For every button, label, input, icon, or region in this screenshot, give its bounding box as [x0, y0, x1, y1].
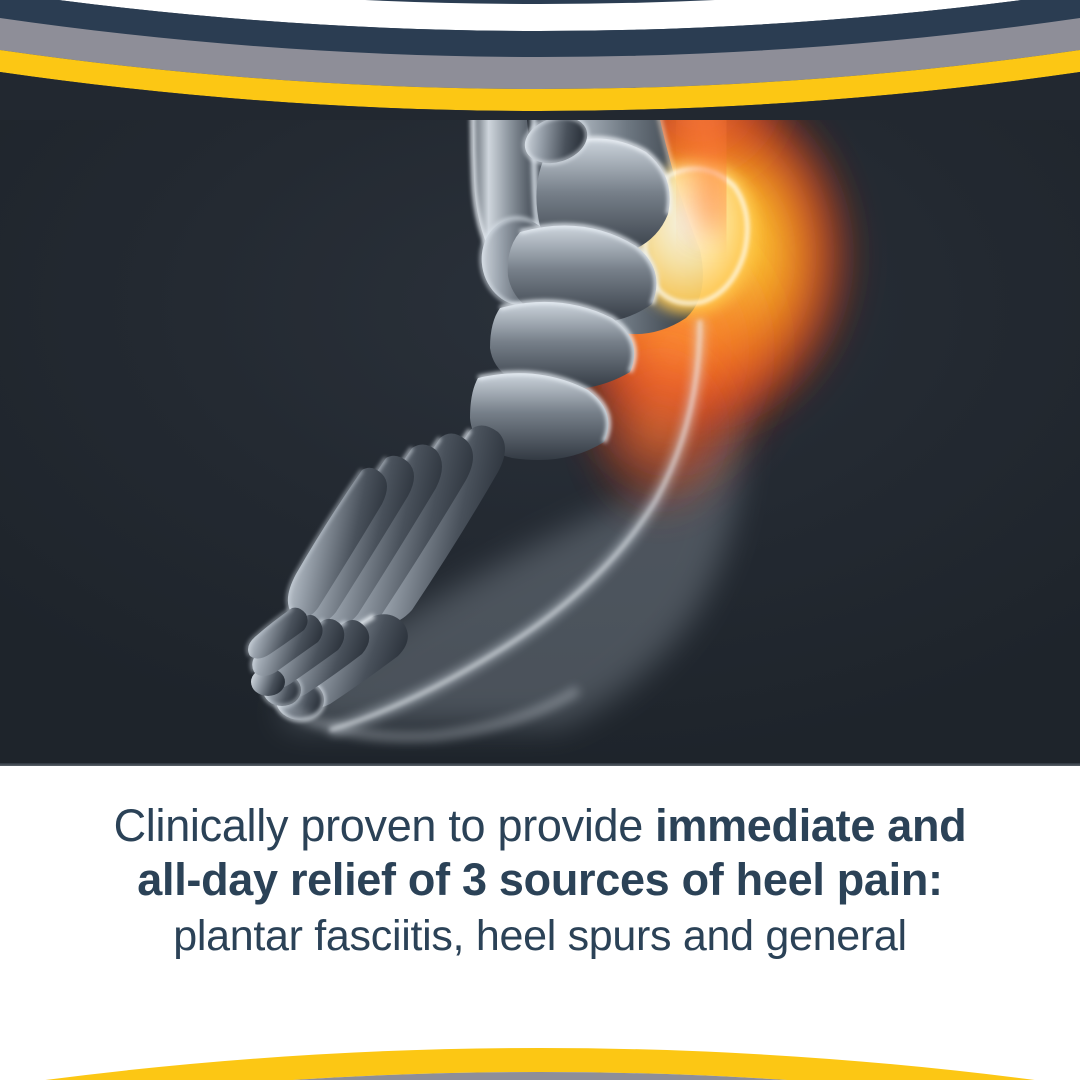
tagline-line-1: Clinically proven to provide immediate a… — [35, 800, 1045, 852]
xray-foot-illustration — [0, 0, 1080, 766]
tagline-line-2: all-day relief of 3 sources of heel pain… — [35, 854, 1045, 906]
tagline-line-4: heel aggravation — [35, 964, 1045, 1014]
tagline-line-3: plantar fasciitis, heel spurs and genera… — [35, 912, 1045, 962]
xray-foot-image — [0, 0, 1080, 766]
tagline-line-1-bold: immediate and — [655, 800, 966, 851]
promo-poster: Clinically proven to provide immediate a… — [0, 0, 1080, 1080]
tagline-line-1-normal: Clinically proven to provide — [114, 800, 656, 851]
tagline-panel: Clinically proven to provide immediate a… — [0, 766, 1080, 1080]
